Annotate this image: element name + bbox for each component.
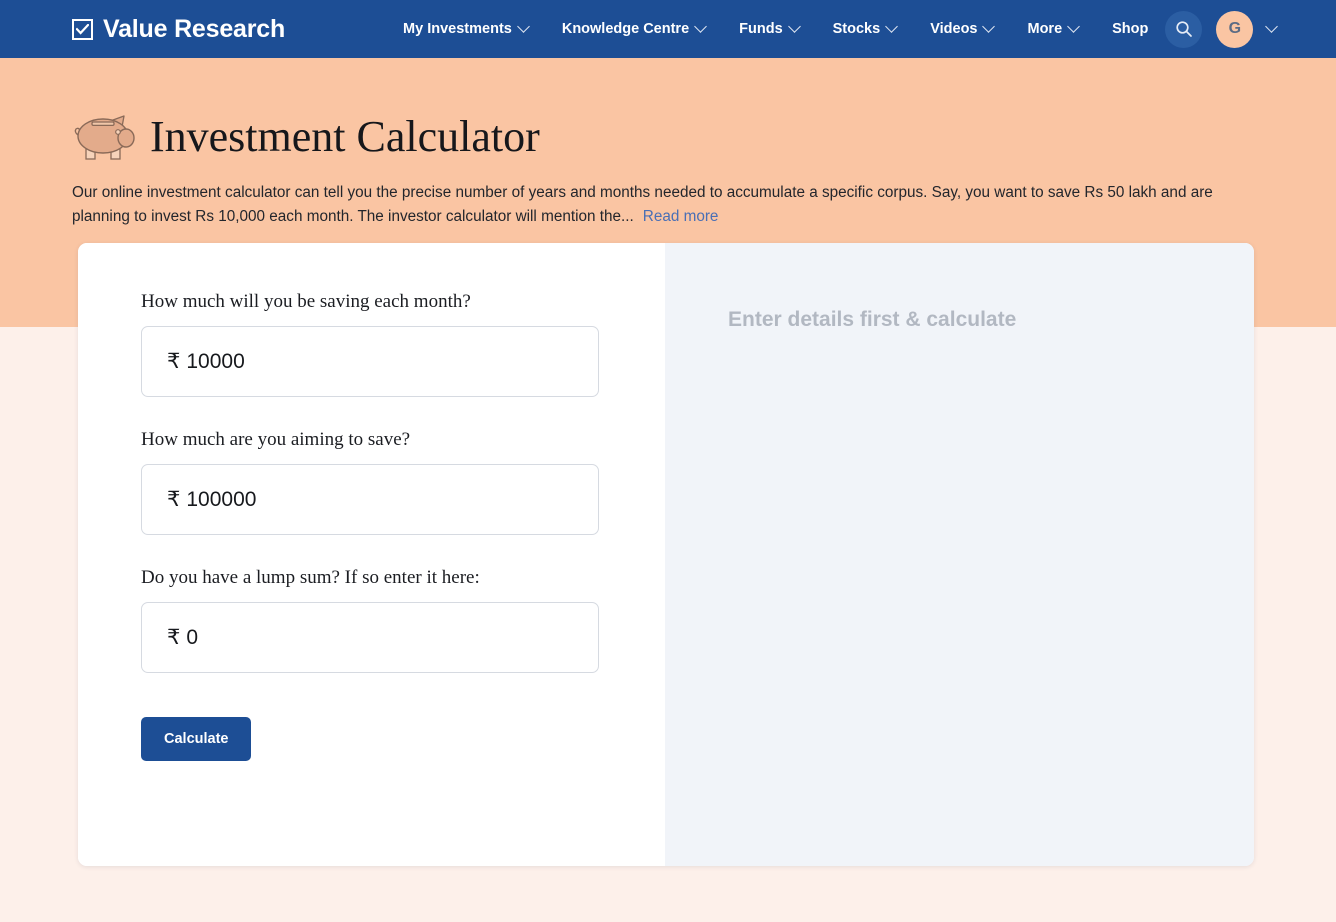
rupee-symbol: ₹ [167, 487, 180, 512]
chevron-down-icon [1067, 20, 1080, 33]
chevron-down-icon [517, 20, 530, 33]
monthly-saving-input[interactable]: ₹ 10000 [141, 326, 599, 397]
top-navigation-bar: Value Research My Investments Knowledge … [0, 0, 1336, 58]
chevron-down-icon [983, 20, 996, 33]
chevron-down-icon [788, 20, 801, 33]
nav-item-label: Funds [739, 21, 783, 37]
monthly-saving-value: 10000 [186, 350, 244, 374]
nav-item-label: More [1027, 21, 1062, 37]
avatar-initial: G [1229, 20, 1241, 38]
page-header: Investment Calculator Our online investm… [72, 108, 1272, 229]
field-label: How much will you be saving each month? [141, 291, 665, 313]
lump-sum-input[interactable]: ₹ 0 [141, 602, 599, 673]
search-icon[interactable] [1165, 11, 1202, 48]
nav-item-my-investments[interactable]: My Investments [386, 21, 545, 37]
nav-item-stocks[interactable]: Stocks [816, 21, 914, 37]
result-placeholder-text: Enter details first & calculate [728, 308, 1254, 332]
nav-item-label: My Investments [403, 21, 512, 37]
nav-item-label: Shop [1112, 21, 1148, 37]
rupee-symbol: ₹ [167, 349, 180, 374]
field-label: How much are you aiming to save? [141, 429, 665, 451]
nav-item-label: Videos [930, 21, 977, 37]
checkbox-check-icon [72, 19, 93, 40]
read-more-link[interactable]: Read more [643, 208, 719, 225]
field-label: Do you have a lump sum? If so enter it h… [141, 567, 665, 589]
chevron-down-icon[interactable] [1266, 20, 1279, 33]
piggy-bank-icon [72, 108, 138, 166]
nav-item-label: Knowledge Centre [562, 21, 689, 37]
target-corpus-input[interactable]: ₹ 100000 [141, 464, 599, 535]
nav-item-more[interactable]: More [1010, 21, 1095, 37]
avatar[interactable]: G [1216, 11, 1253, 48]
calculator-result-panel: Enter details first & calculate [665, 243, 1254, 866]
nav-links: My Investments Knowledge Centre Funds St… [386, 21, 1165, 37]
chevron-down-icon [694, 20, 707, 33]
nav-item-knowledge-centre[interactable]: Knowledge Centre [545, 21, 722, 37]
page-title-row: Investment Calculator [72, 108, 1272, 166]
nav-item-videos[interactable]: Videos [913, 21, 1010, 37]
calculate-button[interactable]: Calculate [141, 717, 251, 761]
field-lump-sum: Do you have a lump sum? If so enter it h… [141, 567, 665, 673]
calculator-card: How much will you be saving each month? … [78, 243, 1254, 866]
chevron-down-icon [885, 20, 898, 33]
calculator-form-panel: How much will you be saving each month? … [78, 243, 665, 866]
brand-logo[interactable]: Value Research [72, 15, 285, 44]
nav-item-funds[interactable]: Funds [722, 21, 816, 37]
lump-sum-value: 0 [186, 626, 198, 650]
page-title: Investment Calculator [150, 115, 540, 159]
brand-name: Value Research [103, 15, 285, 44]
target-corpus-value: 100000 [186, 488, 256, 512]
nav-right-actions: G [1165, 11, 1276, 48]
nav-item-label: Stocks [833, 21, 881, 37]
rupee-symbol: ₹ [167, 625, 180, 650]
page-description: Our online investment calculator can tel… [72, 181, 1252, 229]
field-monthly-saving: How much will you be saving each month? … [141, 291, 665, 397]
field-target-corpus: How much are you aiming to save? ₹ 10000… [141, 429, 665, 535]
nav-item-shop[interactable]: Shop [1095, 21, 1165, 37]
